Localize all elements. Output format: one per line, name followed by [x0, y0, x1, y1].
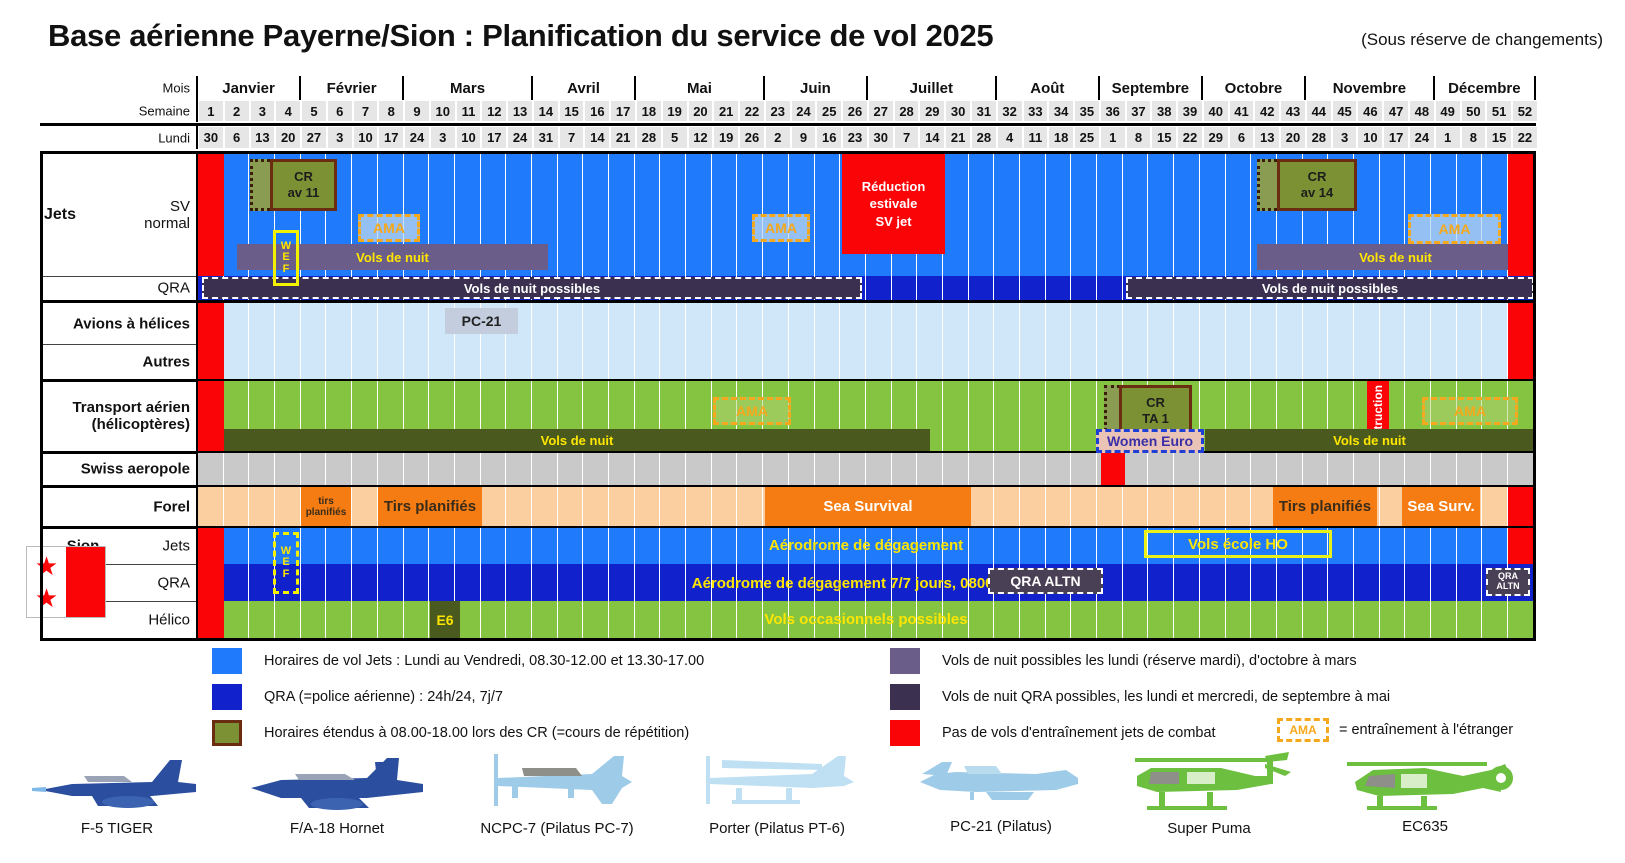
week-cell-38: 38 — [1151, 100, 1177, 122]
grid-columns — [198, 303, 1534, 344]
cr-av11-line2: av 11 — [288, 185, 320, 201]
week-gridline-4 — [275, 453, 301, 485]
week-cell-50: 50 — [1461, 100, 1487, 122]
week-gridline-3 — [249, 344, 275, 379]
week-gridline-29 — [917, 303, 943, 344]
week-gridline-40 — [1200, 303, 1226, 344]
week-gridline-45 — [1328, 303, 1354, 344]
week-cell-10: 10 — [430, 100, 456, 122]
legend-label-1: QRA (=police aérienne) : 24h/24, 7j/7 — [264, 689, 503, 705]
week-gridline-28 — [892, 303, 918, 344]
week-gridline-28 — [892, 276, 918, 300]
flag-white-half: ★ ★ — [27, 547, 66, 617]
forel-red-block-w52 — [1508, 487, 1534, 526]
darkblue-swatch-icon — [212, 684, 242, 710]
week-gridline-50 — [1457, 453, 1483, 485]
week-cell-7: 7 — [353, 100, 379, 122]
monday-cell-25: 16 — [816, 126, 842, 149]
week-gridline-5 — [301, 303, 327, 344]
week-gridline-6 — [326, 344, 352, 379]
ama-badge-legend-icon: AMA — [1277, 718, 1329, 742]
week-gridline-23 — [763, 344, 789, 379]
week-gridline-21 — [712, 487, 738, 526]
week-gridline-9 — [404, 344, 430, 379]
semaine-row-label-cell: Semaine — [0, 100, 196, 122]
week-gridline-31 — [969, 344, 995, 379]
monday-cell-50: 8 — [1461, 126, 1487, 149]
week-gridline-33 — [1020, 154, 1046, 276]
reduction-line1: Réduction — [862, 178, 926, 196]
week-gridline-14 — [532, 344, 558, 379]
week-gridline-26 — [840, 303, 866, 344]
week-gridline-17 — [609, 303, 635, 344]
flight-schedule-chart: Mois JanvierFévrierMarsAvrilMaiJuinJuill… — [0, 76, 1625, 638]
week-gridline-2 — [224, 453, 250, 485]
month-header-février: Février — [299, 76, 402, 100]
month-header-décembre: Décembre — [1433, 76, 1536, 100]
week-gridline-10 — [429, 453, 455, 485]
week-gridline-21 — [712, 344, 738, 379]
row-label-jets: Jets — [44, 206, 76, 224]
jets-qra-labels: QRA — [40, 276, 196, 300]
week-cell-19: 19 — [662, 100, 688, 122]
week-cell-25: 25 — [816, 100, 842, 122]
month-header-septembre: Septembre — [1098, 76, 1201, 100]
row-label-sion-jets: Jets — [162, 537, 190, 554]
week-gridline-44 — [1303, 344, 1329, 379]
week-gridline-17 — [609, 487, 635, 526]
monday-cell-13: 24 — [507, 126, 533, 149]
week-gridline-34 — [1046, 276, 1072, 300]
week-gridline-7 — [352, 344, 378, 379]
monday-cell-30: 21 — [945, 126, 971, 149]
monday-cell-36: 1 — [1100, 126, 1126, 149]
monday-cell-34: 18 — [1048, 126, 1074, 149]
week-gridline-41 — [1226, 453, 1252, 485]
sion-jets-aerodrome-text: Aérodrome de dégagement — [198, 537, 1534, 554]
row-sion-helico: Hélico E6 Vols occasionnels possibles — [40, 601, 1536, 638]
sion-helico-timeline: E6 Vols occasionnels possibles — [196, 601, 1536, 638]
month-header-mars: Mars — [402, 76, 531, 100]
week-cell-17: 17 — [610, 100, 636, 122]
sion-qra-aerodrome-text: Aérodrome de dégagement 7/7 jours, 0800 … — [198, 575, 1534, 592]
reduction-line2: estivale — [870, 195, 918, 213]
vols-nuit-qra-possibles-left: Vols de nuit possibles — [202, 277, 862, 299]
week-cell-33: 33 — [1023, 100, 1049, 122]
week-gridline-38 — [1148, 487, 1174, 526]
jets-sv-normal-labels: Jets SV normal — [40, 154, 196, 276]
legend-label-ama: = entraînement à l'étranger — [1339, 722, 1513, 738]
week-gridline-18 — [635, 344, 661, 379]
semaine-label: Semaine — [139, 105, 196, 118]
month-header-mai: Mai — [634, 76, 763, 100]
week-gridline-24 — [789, 344, 815, 379]
avions-helices-timeline: PC-21 — [196, 303, 1536, 344]
week-gridline-44 — [1303, 453, 1329, 485]
sion-qra-timeline: Aérodrome de dégagement 7/7 jours, 0800 … — [196, 564, 1536, 601]
week-gridline-20 — [686, 303, 712, 344]
monday-cell-52: 22 — [1512, 126, 1538, 149]
week-gridline-49 — [1431, 344, 1457, 379]
month-header-août: Août — [995, 76, 1098, 100]
week-gridline-33 — [1020, 303, 1046, 344]
week-gridline-19 — [660, 487, 686, 526]
women-euro-badge: Women Euro — [1096, 429, 1204, 453]
blue-swatch-icon — [212, 648, 242, 674]
week-gridline-7 — [352, 303, 378, 344]
week-gridline-9 — [404, 453, 430, 485]
vols-de-nuit-transport-right: Vols de nuit — [1205, 429, 1534, 451]
monday-cell-17: 21 — [610, 126, 636, 149]
week-gridline-30 — [943, 381, 969, 451]
month-header-octobre: Octobre — [1201, 76, 1304, 100]
row-label-autres: Autres — [142, 353, 190, 370]
week-gridline-4 — [275, 303, 301, 344]
week-gridline-27 — [866, 344, 892, 379]
week-gridline-14 — [532, 303, 558, 344]
cr-av14-line1: CR — [1308, 169, 1327, 185]
aeropole-red-block — [1101, 453, 1125, 485]
week-gridline-41 — [1226, 154, 1252, 276]
week-gridline-50 — [1457, 344, 1483, 379]
week-cell-21: 21 — [713, 100, 739, 122]
week-gridline-43 — [1277, 453, 1303, 485]
row-jets-qra: QRA Vols de nuit possibles Vols de nuit … — [40, 276, 1536, 300]
month-header-janvier: Janvier — [196, 76, 299, 100]
week-gridline-42 — [1251, 303, 1277, 344]
chart-bottom-border — [40, 638, 1536, 641]
transport-aerien-labels: Transport aérien (hélicoptères) — [40, 381, 196, 451]
week-cell-11: 11 — [456, 100, 482, 122]
week-gridline-40 — [1200, 453, 1226, 485]
week-gridline-27 — [866, 453, 892, 485]
fleet-item-f5: F-5 TIGER — [12, 754, 222, 837]
avions-helices-labels: Avions à hélices — [40, 303, 196, 344]
week-gridline-2 — [224, 487, 250, 526]
week-gridline-47 — [1380, 344, 1406, 379]
week-gridline-25 — [815, 154, 841, 276]
week-gridline-19 — [660, 344, 686, 379]
week-gridline-26 — [840, 344, 866, 379]
week-gridline-3 — [249, 453, 275, 485]
week-gridline-15 — [558, 303, 584, 344]
week-gridline-32 — [994, 487, 1020, 526]
monday-cell-10: 3 — [430, 126, 456, 149]
row-autres: Autres — [40, 344, 1536, 379]
monday-cell-32: 4 — [997, 126, 1023, 149]
legend-item-2: Horaires étendus à 08.00-18.00 lors des … — [212, 720, 689, 746]
week-gridline-49 — [1431, 303, 1457, 344]
prop-pc21-icon — [916, 756, 1086, 814]
week-cell-44: 44 — [1306, 100, 1332, 122]
week-gridline-39 — [1174, 487, 1200, 526]
week-cell-16: 16 — [584, 100, 610, 122]
week-gridline-35 — [1071, 381, 1097, 451]
monday-cell-21: 19 — [713, 126, 739, 149]
legend-label-4: Vols de nuit QRA possibles, les lundi et… — [942, 689, 1390, 705]
week-cell-22: 22 — [739, 100, 765, 122]
week-gridline-18 — [635, 487, 661, 526]
week-gridline-33 — [1020, 344, 1046, 379]
monday-cell-39: 22 — [1177, 126, 1203, 149]
chart-right-border — [1533, 154, 1536, 638]
legend-item-ama: AMA = entraînement à l'étranger — [1277, 718, 1513, 742]
week-cell-4: 4 — [275, 100, 301, 122]
week-cell-42: 42 — [1254, 100, 1280, 122]
week-cell-29: 29 — [919, 100, 945, 122]
week-gridline-41 — [1226, 487, 1252, 526]
monday-cell-20: 12 — [688, 126, 714, 149]
reduction-line3: SV jet — [875, 213, 911, 231]
week-gridline-10 — [429, 344, 455, 379]
weeks-row: 1234567891011121314151617181920212223242… — [196, 100, 1536, 122]
week-cell-1: 1 — [198, 100, 224, 122]
legend-item-5: Pas de vols d'entraînement jets de comba… — [890, 720, 1216, 746]
week-gridline-17 — [609, 344, 635, 379]
lundi-label: Lundi — [158, 131, 196, 144]
monday-cell-44: 28 — [1306, 126, 1332, 149]
fleet-caption-porter: Porter (Pilatus PT-6) — [672, 820, 882, 837]
month-header-novembre: Novembre — [1304, 76, 1433, 100]
heli-ec635-icon — [1333, 752, 1518, 814]
monday-cell-22: 26 — [739, 126, 765, 149]
row-jets-sv-normal: Jets SV normal CR av 11 AMA AMA R — [40, 154, 1536, 276]
autres-labels: Autres — [40, 344, 196, 379]
week-cell-2: 2 — [224, 100, 250, 122]
week-gridline-12 — [481, 453, 507, 485]
week-gridline-17 — [609, 154, 635, 276]
monday-cell-24: 9 — [791, 126, 817, 149]
monday-cell-33: 11 — [1023, 126, 1049, 149]
ama-badge-may: AMA — [752, 214, 810, 242]
week-gridline-36 — [1097, 487, 1123, 526]
qra-altn-dec-line2: ALTN — [1496, 582, 1519, 592]
week-gridline-32 — [994, 453, 1020, 485]
week-cell-49: 49 — [1435, 100, 1461, 122]
week-gridline-6 — [326, 303, 352, 344]
forel-labels: Forel — [40, 487, 196, 526]
week-gridline-37 — [1123, 303, 1149, 344]
week-gridline-45 — [1328, 344, 1354, 379]
week-gridline-7 — [352, 453, 378, 485]
cr-av14-line2: av 14 — [1301, 185, 1334, 201]
week-gridline-39 — [1174, 453, 1200, 485]
week-gridline-43 — [1277, 344, 1303, 379]
week-gridline-41 — [1226, 344, 1252, 379]
week-gridline-48 — [1405, 344, 1431, 379]
sion-helico-text: Vols occasionnels possibles — [198, 611, 1534, 628]
cr-ta1-line2: TA 1 — [1142, 411, 1169, 427]
legend-label-2: Horaires étendus à 08.00-18.00 lors des … — [264, 725, 689, 741]
week-gridline-33 — [1020, 276, 1046, 300]
row-label-avions-helices: Avions à hélices — [73, 315, 190, 332]
week-gridline-30 — [943, 453, 969, 485]
cr-av14-box: CR av 14 — [1277, 159, 1357, 211]
week-gridline-31 — [969, 303, 995, 344]
monday-cell-41: 6 — [1229, 126, 1255, 149]
week-gridline-46 — [1354, 453, 1380, 485]
page-title: Base aérienne Payerne/Sion : Planificati… — [48, 18, 993, 54]
week-gridline-45 — [1328, 453, 1354, 485]
tirs-small-line1: tirs — [318, 496, 334, 507]
week-gridline-35 — [1071, 276, 1097, 300]
week-gridline-1 — [198, 453, 224, 485]
monday-cell-27: 30 — [868, 126, 894, 149]
week-gridline-18 — [635, 453, 661, 485]
week-gridline-28 — [892, 344, 918, 379]
week-gridline-27 — [866, 276, 892, 300]
week-gridline-4 — [275, 487, 301, 526]
monday-cell-43: 20 — [1280, 126, 1306, 149]
week-gridline-37 — [1123, 154, 1149, 276]
week-gridline-20 — [686, 487, 712, 526]
week-gridline-32 — [994, 381, 1020, 451]
week-gridline-21 — [712, 154, 738, 276]
week-gridline-16 — [583, 154, 609, 276]
title-bar: Base aérienne Payerne/Sion : Planificati… — [0, 10, 1625, 58]
row-avions-helices: Avions à hélices PC-21 — [40, 303, 1536, 344]
sea-survival-bar: Sea Survival — [765, 487, 971, 526]
monday-cell-28: 7 — [894, 126, 920, 149]
ama-badge-nov: AMA — [1408, 214, 1501, 244]
legend-item-1: QRA (=police aérienne) : 24h/24, 7j/7 — [212, 684, 503, 710]
week-gridline-25 — [815, 303, 841, 344]
ama-badge-transport-may: AMA — [713, 397, 791, 425]
week-gridline-50 — [1457, 303, 1483, 344]
week-cell-20: 20 — [688, 100, 714, 122]
week-gridline-32 — [994, 303, 1020, 344]
week-gridline-26 — [840, 453, 866, 485]
wef-f: F — [283, 264, 290, 276]
week-gridline-13 — [506, 453, 532, 485]
monday-cell-2: 6 — [224, 126, 250, 149]
week-cell-28: 28 — [894, 100, 920, 122]
monday-cell-18: 28 — [636, 126, 662, 149]
week-gridline-14 — [532, 487, 558, 526]
prop-porter-icon — [692, 752, 862, 816]
week-gridline-8 — [378, 344, 404, 379]
week-gridline-34 — [1046, 487, 1072, 526]
week-gridline-8 — [378, 303, 404, 344]
week-cell-39: 39 — [1177, 100, 1203, 122]
fleet-item-fa18: F/A-18 Hornet — [232, 754, 442, 837]
week-gridline-33 — [1020, 381, 1046, 451]
qra-altn-badge: QRA ALTN — [988, 568, 1103, 594]
monday-cell-40: 29 — [1203, 126, 1229, 149]
monday-cell-1: 30 — [198, 126, 224, 149]
heli-superpuma-icon — [1117, 750, 1302, 816]
fleet-caption-pc21: PC-21 (Pilatus) — [896, 818, 1106, 835]
monday-cell-26: 23 — [842, 126, 868, 149]
week-gridline-3 — [249, 487, 275, 526]
legend-item-3: Vols de nuit possibles les lundi (réserv… — [890, 648, 1357, 674]
row-swiss-aeropole: Swiss aeropole — [40, 453, 1536, 485]
fleet-item-superpuma: Super Puma — [1104, 750, 1314, 837]
monday-cell-31: 28 — [971, 126, 997, 149]
week-gridline-38 — [1148, 453, 1174, 485]
week-gridline-15 — [558, 154, 584, 276]
month-header-avril: Avril — [531, 76, 634, 100]
months-row: JanvierFévrierMarsAvrilMaiJuinJuilletAoû… — [196, 76, 1536, 100]
monday-cell-47: 17 — [1383, 126, 1409, 149]
wef-sion-f: F — [283, 569, 290, 581]
fleet-item-pc7: NCPC-7 (Pilatus PC-7) — [452, 752, 662, 837]
aircraft-fleet-row: F-5 TIGER F/A-18 Hornet NCPC-7 (Pilatus — [0, 748, 1625, 863]
week-cell-37: 37 — [1126, 100, 1152, 122]
row-label-sion-helico: Hélico — [148, 611, 190, 628]
week-gridline-19 — [660, 154, 686, 276]
fleet-caption-superpuma: Super Puma — [1104, 820, 1314, 837]
week-gridline-5 — [301, 344, 327, 379]
monday-cell-12: 17 — [481, 126, 507, 149]
week-gridline-39 — [1174, 344, 1200, 379]
fleet-item-ec635: EC635 — [1320, 752, 1530, 835]
week-gridline-18 — [635, 154, 661, 276]
jet-f5-icon — [32, 754, 202, 816]
week-gridline-42 — [1251, 344, 1277, 379]
week-gridline-11 — [455, 453, 481, 485]
star-icon-top: ★ — [35, 553, 58, 579]
row-label-swiss-aeropole: Swiss aeropole — [81, 460, 190, 477]
week-gridline-48 — [1405, 453, 1431, 485]
monday-cell-16: 14 — [584, 126, 610, 149]
monday-cell-35: 25 — [1074, 126, 1100, 149]
week-gridline-29 — [917, 276, 943, 300]
monday-cell-46: 10 — [1357, 126, 1383, 149]
week-gridline-16 — [583, 453, 609, 485]
week-gridline-51 — [1482, 487, 1508, 526]
monday-cell-51: 15 — [1486, 126, 1512, 149]
week-gridline-52 — [1508, 453, 1534, 485]
week-gridline-38 — [1148, 344, 1174, 379]
autres-timeline — [196, 344, 1536, 379]
week-gridline-21 — [712, 453, 738, 485]
week-cell-45: 45 — [1332, 100, 1358, 122]
week-cell-24: 24 — [791, 100, 817, 122]
week-gridline-16 — [583, 344, 609, 379]
jets-sv-normal-timeline: CR av 11 AMA AMA Réduction estivale SV j… — [196, 154, 1536, 276]
week-cell-32: 32 — [997, 100, 1023, 122]
monday-cell-38: 15 — [1151, 126, 1177, 149]
week-gridline-3 — [249, 303, 275, 344]
jets-qra-timeline: Vols de nuit possibles Vols de nuit poss… — [196, 276, 1536, 300]
week-gridline-15 — [558, 487, 584, 526]
week-gridline-24 — [789, 303, 815, 344]
mois-row-label-cell: Mois — [0, 76, 196, 100]
week-gridline-39 — [1174, 154, 1200, 276]
week-cell-15: 15 — [559, 100, 585, 122]
week-gridline-35 — [1071, 487, 1097, 526]
week-gridline-34 — [1046, 381, 1072, 451]
week-gridline-31 — [969, 381, 995, 451]
week-gridline-23 — [763, 453, 789, 485]
week-gridline-32 — [994, 344, 1020, 379]
week-gridline-20 — [686, 344, 712, 379]
week-gridline-33 — [1020, 487, 1046, 526]
sion-no-fly-w52 — [1508, 528, 1534, 564]
week-gridline-47 — [1380, 453, 1406, 485]
week-cell-30: 30 — [945, 100, 971, 122]
monday-cell-11: 10 — [456, 126, 482, 149]
week-cell-6: 6 — [327, 100, 353, 122]
tirs-planifies-oct: Tirs planifiés — [1273, 487, 1377, 526]
week-gridline-40 — [1200, 487, 1226, 526]
week-gridline-30 — [943, 276, 969, 300]
week-gridline-46 — [1354, 303, 1380, 344]
chart-left-border — [40, 154, 43, 638]
week-gridline-28 — [892, 453, 918, 485]
monday-cell-8: 17 — [378, 126, 404, 149]
